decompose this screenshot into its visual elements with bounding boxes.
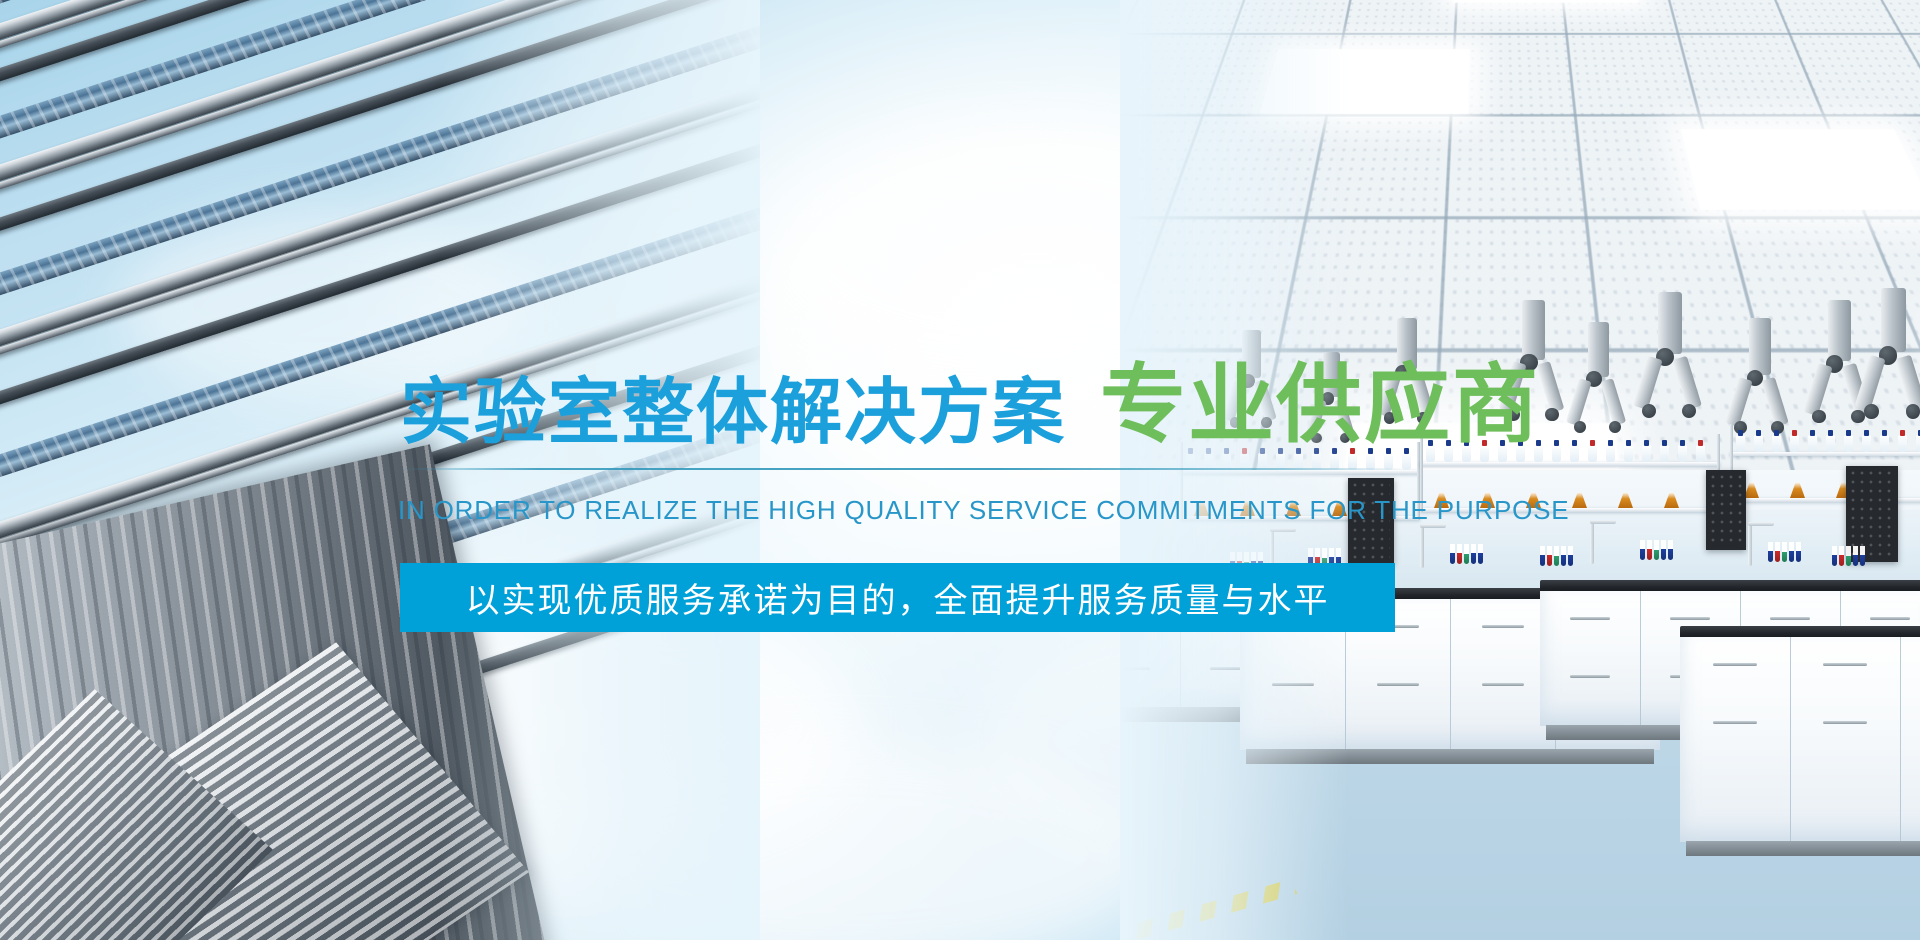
english-subtitle: IN ORDER TO REALIZE THE HIGH QUALITY SER… [398, 495, 1569, 526]
headline-primary: 实验室整体解决方案 [400, 376, 1066, 448]
headline-divider [398, 468, 1403, 470]
headline-group: 实验室整体解决方案 专业供应商 [400, 362, 1540, 448]
slogan-text: 以实现优质服务承诺为目的，全面提升服务质量与水平 [466, 573, 1330, 622]
slogan-bar: 以实现优质服务承诺为目的，全面提升服务质量与水平 [400, 563, 1395, 632]
banner-content: 实验室整体解决方案 专业供应商 IN ORDER TO REALIZE THE … [0, 0, 1920, 940]
headline-secondary: 专业供应商 [1100, 362, 1540, 448]
hero-banner: 实验室整体解决方案 专业供应商 IN ORDER TO REALIZE THE … [0, 0, 1920, 940]
